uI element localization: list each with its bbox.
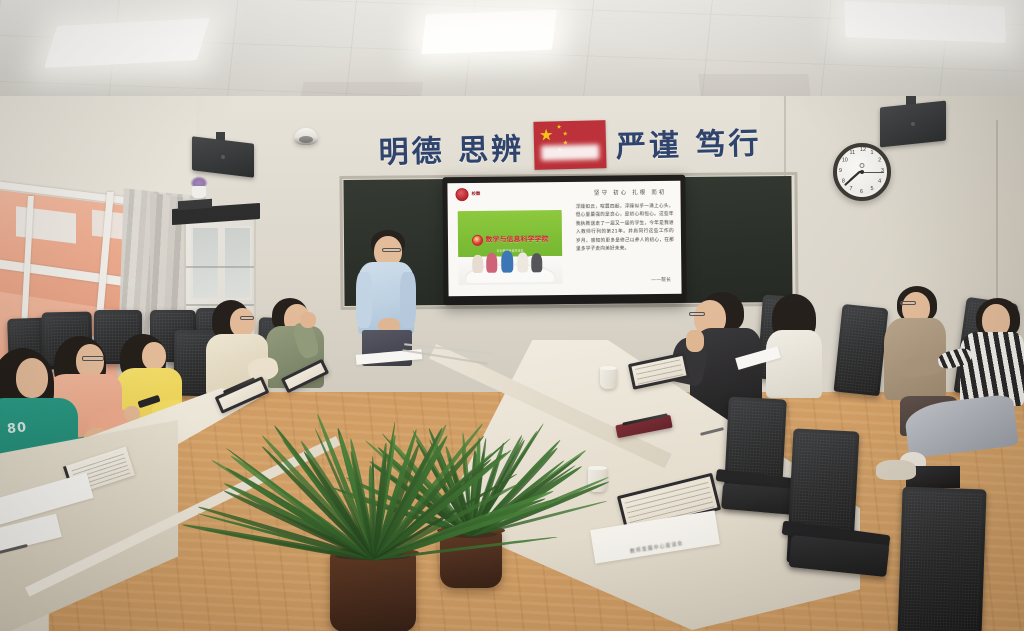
glasses-icon [689, 312, 705, 316]
photo-person [517, 252, 528, 272]
clock-numeral: 11 [850, 150, 856, 156]
glasses-icon [240, 316, 254, 320]
speaker-right-icon [880, 101, 946, 148]
clock-numeral: 6 [860, 189, 863, 195]
clock-numeral: 2 [878, 158, 881, 164]
dome-camera-icon [294, 128, 318, 145]
cabinet-door-left[interactable] [191, 226, 220, 300]
wall-motto-banner: 明德 思辨 严谨 笃行 [359, 109, 780, 181]
slide-logo-text: 校徽 [471, 192, 480, 198]
clock-center-pin [860, 170, 864, 174]
office-chair[interactable] [897, 487, 986, 631]
plant-pot [440, 530, 502, 588]
photo-green-banner: 数学与信息科学学院 [458, 232, 562, 247]
glasses-icon [382, 248, 401, 252]
flag-of-china-icon [533, 120, 606, 170]
hand [300, 312, 316, 328]
blurred-name-plate [541, 144, 599, 160]
clock-numeral: 1 [871, 150, 874, 156]
ceiling-light-2 [421, 10, 557, 55]
office-chair[interactable] [834, 304, 889, 396]
plant-pot [330, 552, 416, 631]
motto-left: 明德 思辨 [378, 124, 524, 172]
slide-signature: ——院长 [651, 277, 671, 283]
shoe-beige [876, 460, 916, 480]
clock-second-hand [862, 172, 884, 173]
head [76, 344, 104, 378]
clock-numeral: 12 [860, 147, 866, 153]
slide-photo: 数学与信息科学学院 青年教师座谈交流会 [458, 210, 563, 285]
motto-right: 严谨 笃行 [615, 118, 761, 166]
flower-pot [192, 186, 206, 198]
paper-cup [600, 366, 617, 389]
clock-minute-hand [844, 171, 861, 186]
slide-university-logo: 校徽 [455, 188, 480, 201]
photo-banner-text: 数学与信息科学学院 [485, 234, 548, 245]
head [142, 342, 166, 370]
ceiling-light-3 [844, 1, 1006, 43]
slide-header-text: 坚守 初心 扎根 而初 [594, 188, 667, 197]
clock-numeral: 5 [871, 186, 874, 192]
presentation-slide: 校徽 坚守 初心 扎根 而初 数学与信息科学学院 青年教师座谈交流会 浮躁如云，… [447, 181, 681, 296]
arm-right [400, 272, 416, 328]
head [16, 358, 48, 398]
cabinet-shelf [186, 266, 254, 268]
torso [766, 330, 822, 398]
flag-star-small [556, 124, 561, 129]
arm-left [356, 272, 372, 328]
clock-brand-mark [860, 163, 865, 168]
clock-face: 121234567891011 [839, 149, 885, 195]
wall-mounted-display[interactable]: 校徽 坚守 初心 扎根 而初 数学与信息科学学院 青年教师座谈交流会 浮躁如云，… [442, 175, 686, 306]
photo-person [531, 253, 542, 272]
photo-person [486, 253, 497, 273]
photo-person [501, 251, 513, 273]
photo-emblem-icon [471, 234, 482, 245]
clock-numeral: 9 [839, 168, 842, 174]
cabinet-door-right[interactable] [223, 226, 252, 300]
glasses-icon [900, 301, 916, 305]
conference-room-photo: 121234567891011 明德 思辨 严谨 笃行 校徽 坚守 初心 扎 [0, 0, 1024, 631]
photo-person [472, 255, 483, 273]
ceiling-light-1 [44, 18, 210, 68]
wall-clock: 121234567891011 [833, 143, 891, 201]
university-emblem-icon [455, 188, 468, 201]
head [230, 308, 255, 337]
hands [686, 330, 704, 352]
glasses-icon [82, 356, 104, 361]
clock-numeral: 3 [881, 168, 884, 174]
clock-numeral: 4 [878, 179, 881, 185]
flag-star-large [540, 128, 553, 141]
slide-body-text: 浮躁如云，喧嚣四起，浮躁似乎一涌上心头，但心里最强的是良心，是初心和恒心。这些年… [576, 203, 675, 255]
flag-star-small [563, 131, 568, 136]
clock-numeral: 10 [842, 158, 848, 164]
clock-numeral: 7 [850, 186, 853, 192]
